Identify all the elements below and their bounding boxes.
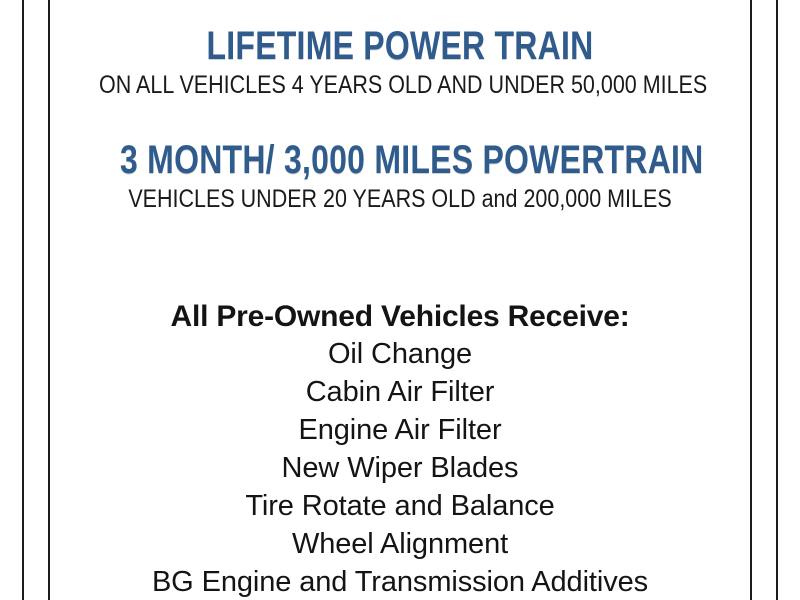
warranty-subtitle-lifetime-power-train: ON ALL VEHICLES 4 YEARS OLD AND UNDER 50… bbox=[99, 72, 701, 98]
service-item-new-wiper-blades: New Wiper Blades bbox=[50, 450, 750, 488]
service-item-engine-air-filter: Engine Air Filter bbox=[50, 412, 750, 450]
services-section: All Pre-Owned Vehicles Receive: Oil Chan… bbox=[50, 298, 750, 600]
flyer-page: LIFETIME POWER TRAIN ON ALL VEHICLES 4 Y… bbox=[0, 0, 800, 600]
border-rule-right-outer bbox=[776, 0, 778, 600]
service-item-bg-engine-and-transmission-additives: BG Engine and Transmission Additives bbox=[50, 564, 750, 600]
border-rule-left-outer bbox=[22, 0, 24, 600]
border-rule-right-inner bbox=[750, 0, 752, 600]
warranty-subtitle-three-month-powertrain: VEHICLES UNDER 20 YEARS OLD and 200,000 … bbox=[99, 186, 701, 212]
warranty-block-lifetime-power-train: LIFETIME POWER TRAIN ON ALL VEHICLES 4 Y… bbox=[50, 26, 750, 98]
warranty-title-lifetime-power-train: LIFETIME POWER TRAIN bbox=[120, 26, 680, 66]
service-item-oil-change: Oil Change bbox=[50, 336, 750, 374]
services-heading: All Pre-Owned Vehicles Receive: bbox=[50, 298, 750, 336]
warranty-title-three-month-powertrain: 3 MONTH/ 3,000 MILES POWERTRAIN bbox=[120, 140, 680, 180]
flyer-content: LIFETIME POWER TRAIN ON ALL VEHICLES 4 Y… bbox=[50, 0, 750, 600]
service-item-cabin-air-filter: Cabin Air Filter bbox=[50, 374, 750, 412]
service-item-tire-rotate-and-balance: Tire Rotate and Balance bbox=[50, 488, 750, 526]
warranty-block-three-month-powertrain: 3 MONTH/ 3,000 MILES POWERTRAIN VEHICLES… bbox=[50, 140, 750, 212]
service-item-wheel-alignment: Wheel Alignment bbox=[50, 526, 750, 564]
